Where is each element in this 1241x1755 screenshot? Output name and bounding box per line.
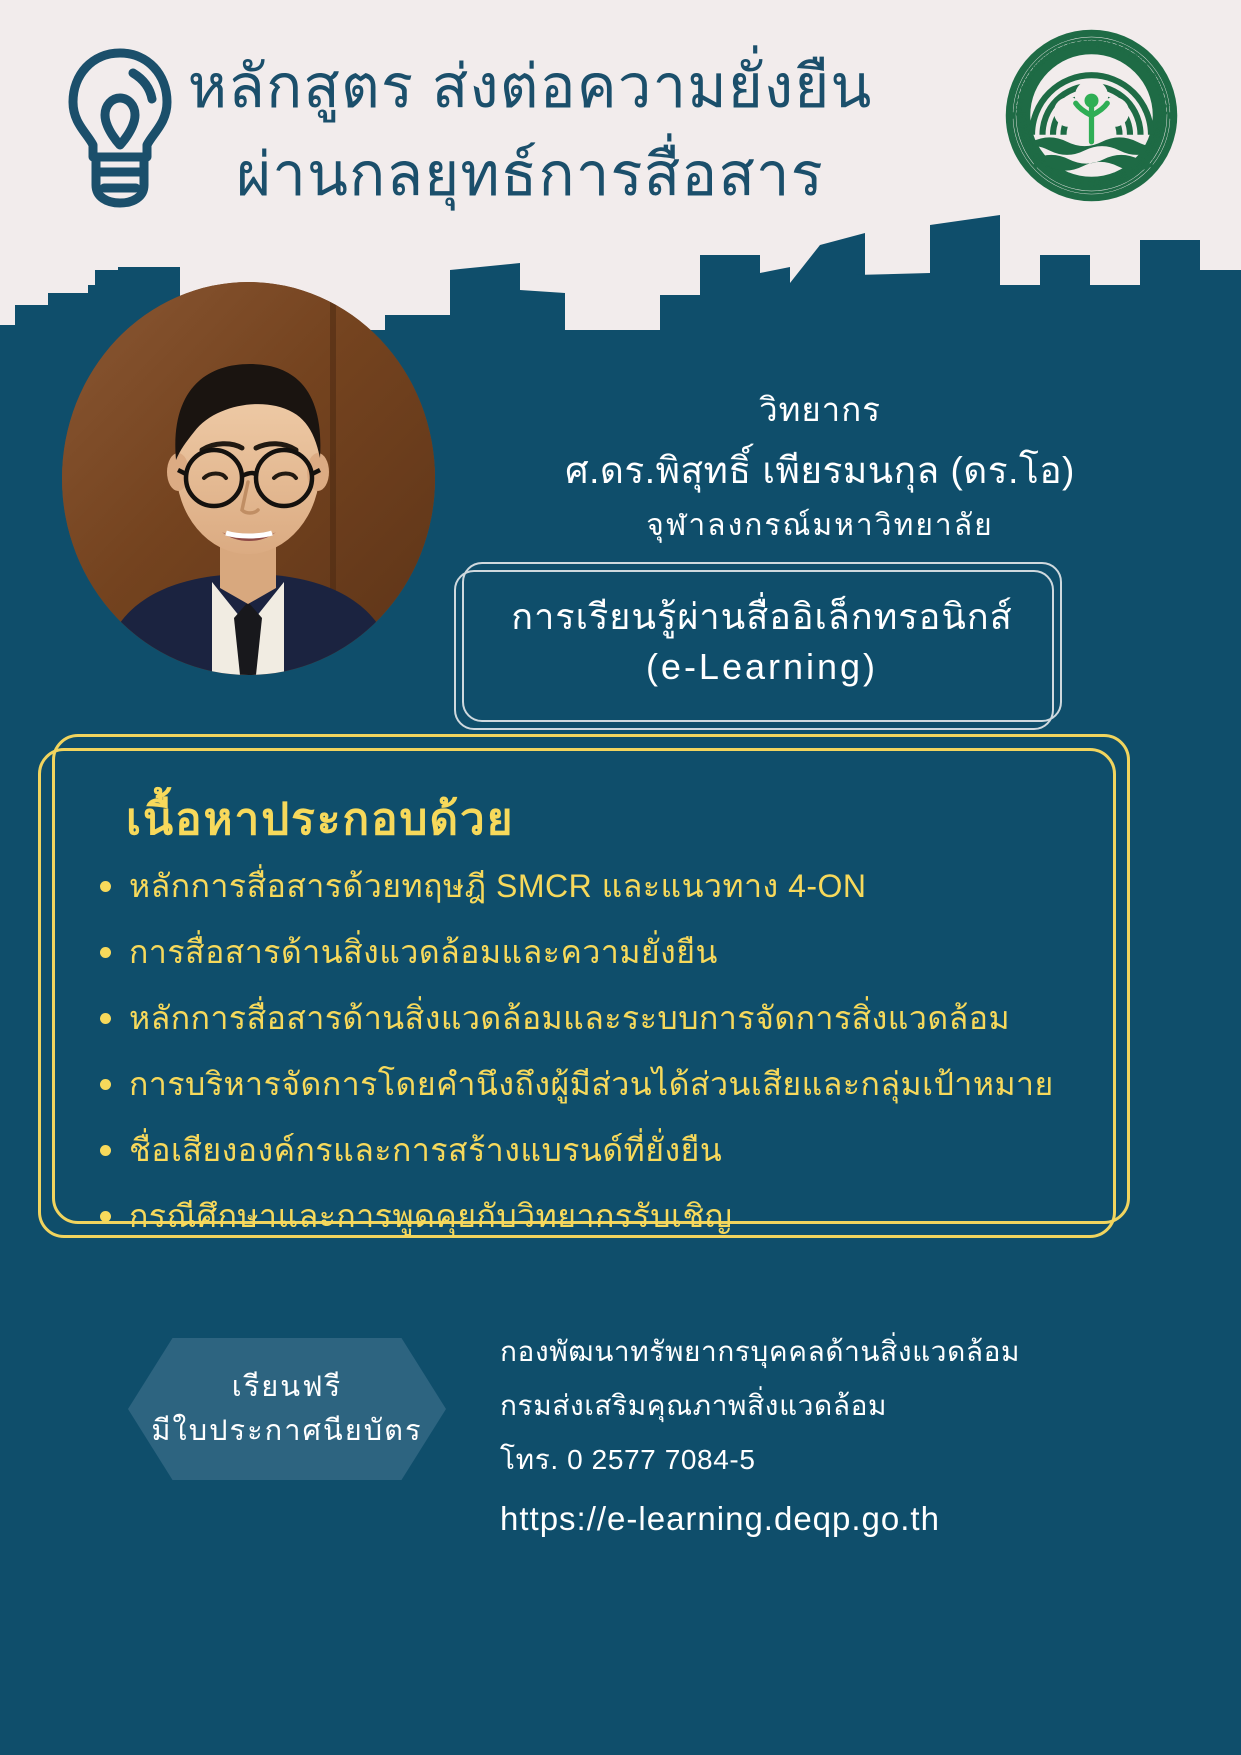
list-item-label: ชื่อเสียงองค์กรและการสร้างแบรนด์ที่ยั่งย… — [129, 1128, 722, 1172]
learning-format-line-2: (e-Learning) — [646, 642, 878, 692]
list-item-label: หลักการสื่อสารด้านสิ่งแวดล้อมและระบบการจ… — [129, 996, 1010, 1040]
title-line-1: หลักสูตร ส่งต่อความยั่งยืน — [150, 48, 910, 126]
speaker-organization: จุฬาลงกรณ์มหาวิทยาลัย — [460, 504, 1180, 548]
list-item: การสื่อสารด้านสิ่งแวดล้อมและความยั่งยืน — [100, 930, 1076, 974]
contact-division: กองพัฒนาทรัพยากรบุคคลด้านสิ่งแวดล้อม — [500, 1328, 1200, 1376]
bullet-dot-icon — [100, 1211, 111, 1222]
learning-format-line-1: การเรียนรู้ผ่านสื่ออิเล็กทรอนิกส์ — [511, 592, 1012, 642]
poster-root: หลักสูตร ส่งต่อความยั่งยืน ผ่านกลยุทธ์กา… — [0, 0, 1241, 1755]
learning-format-box: การเรียนรู้ผ่านสื่ออิเล็กทรอนิกส์ (e-Lea… — [462, 562, 1062, 722]
content-heading: เนื้อหาประกอบด้วย — [126, 790, 1076, 850]
speaker-name: ศ.ดร.พิสุทธิ์ เพียรมนกุล (ดร.โอ) — [460, 444, 1180, 498]
list-item-label: การบริหารจัดการโดยคำนึงถึงผู้มีส่วนได้ส่… — [129, 1062, 1054, 1106]
speaker-info-block: วิทยากร ศ.ดร.พิสุทธิ์ เพียรมนกุล (ดร.โอ)… — [460, 388, 1180, 548]
bullet-dot-icon — [100, 1145, 111, 1156]
list-item: ชื่อเสียงองค์กรและการสร้างแบรนด์ที่ยั่งย… — [100, 1128, 1076, 1172]
speaker-portrait-photo — [62, 282, 435, 675]
course-content-card: เนื้อหาประกอบด้วย หลักการสื่อสารด้วยทฤษฎ… — [38, 748, 1116, 1238]
bullet-dot-icon — [100, 1013, 111, 1024]
free-course-badge: เรียนฟรี มีใบประกาศนียบัตร — [128, 1338, 446, 1480]
bullet-dot-icon — [100, 881, 111, 892]
list-item-label: การสื่อสารด้านสิ่งแวดล้อมและความยั่งยืน — [129, 930, 718, 974]
title-line-2: ผ่านกลยุทธ์การสื่อสาร — [150, 136, 910, 214]
contact-phone: โทร. 0 2577 7084-5 — [500, 1436, 1200, 1484]
list-item-label: หลักการสื่อสารด้วยทฤษฎี SMCR และแนวทาง 4… — [129, 864, 867, 908]
contact-url-link[interactable]: https://e-learning.deqp.go.th — [500, 1492, 1200, 1546]
badge-line-1: เรียนฟรี — [232, 1365, 342, 1409]
speaker-role-label: วิทยากร — [460, 388, 1180, 432]
department-logo-icon: กรมการเปลี่ยนแปลงสภาพภูมิอากาศและสิ่งแวด… — [1004, 28, 1179, 203]
contact-department: กรมส่งเสริมคุณภาพสิ่งแวดล้อม — [500, 1382, 1200, 1430]
badge-line-2: มีใบประกาศนียบัตร — [151, 1409, 422, 1453]
list-item-label: กรณีศึกษาและการพูดคุยกับวิทยากรรับเชิญ — [129, 1194, 732, 1238]
list-item: หลักการสื่อสารด้านสิ่งแวดล้อมและระบบการจ… — [100, 996, 1076, 1040]
list-item: หลักการสื่อสารด้วยทฤษฎี SMCR และแนวทาง 4… — [100, 864, 1076, 908]
bullet-dot-icon — [100, 947, 111, 958]
content-bullet-list: หลักการสื่อสารด้วยทฤษฎี SMCR และแนวทาง 4… — [78, 864, 1076, 1238]
list-item: การบริหารจัดการโดยคำนึงถึงผู้มีส่วนได้ส่… — [100, 1062, 1076, 1106]
contact-block: กองพัฒนาทรัพยากรบุคคลด้านสิ่งแวดล้อม กรม… — [500, 1328, 1200, 1552]
list-item: กรณีศึกษาและการพูดคุยกับวิทยากรรับเชิญ — [100, 1194, 1076, 1238]
poster-title: หลักสูตร ส่งต่อความยั่งยืน ผ่านกลยุทธ์กา… — [150, 48, 910, 214]
bullet-dot-icon — [100, 1079, 111, 1090]
poster-footer: เรียนฟรี มีใบประกาศนียบัตร กองพัฒนาทรัพย… — [0, 1300, 1241, 1755]
